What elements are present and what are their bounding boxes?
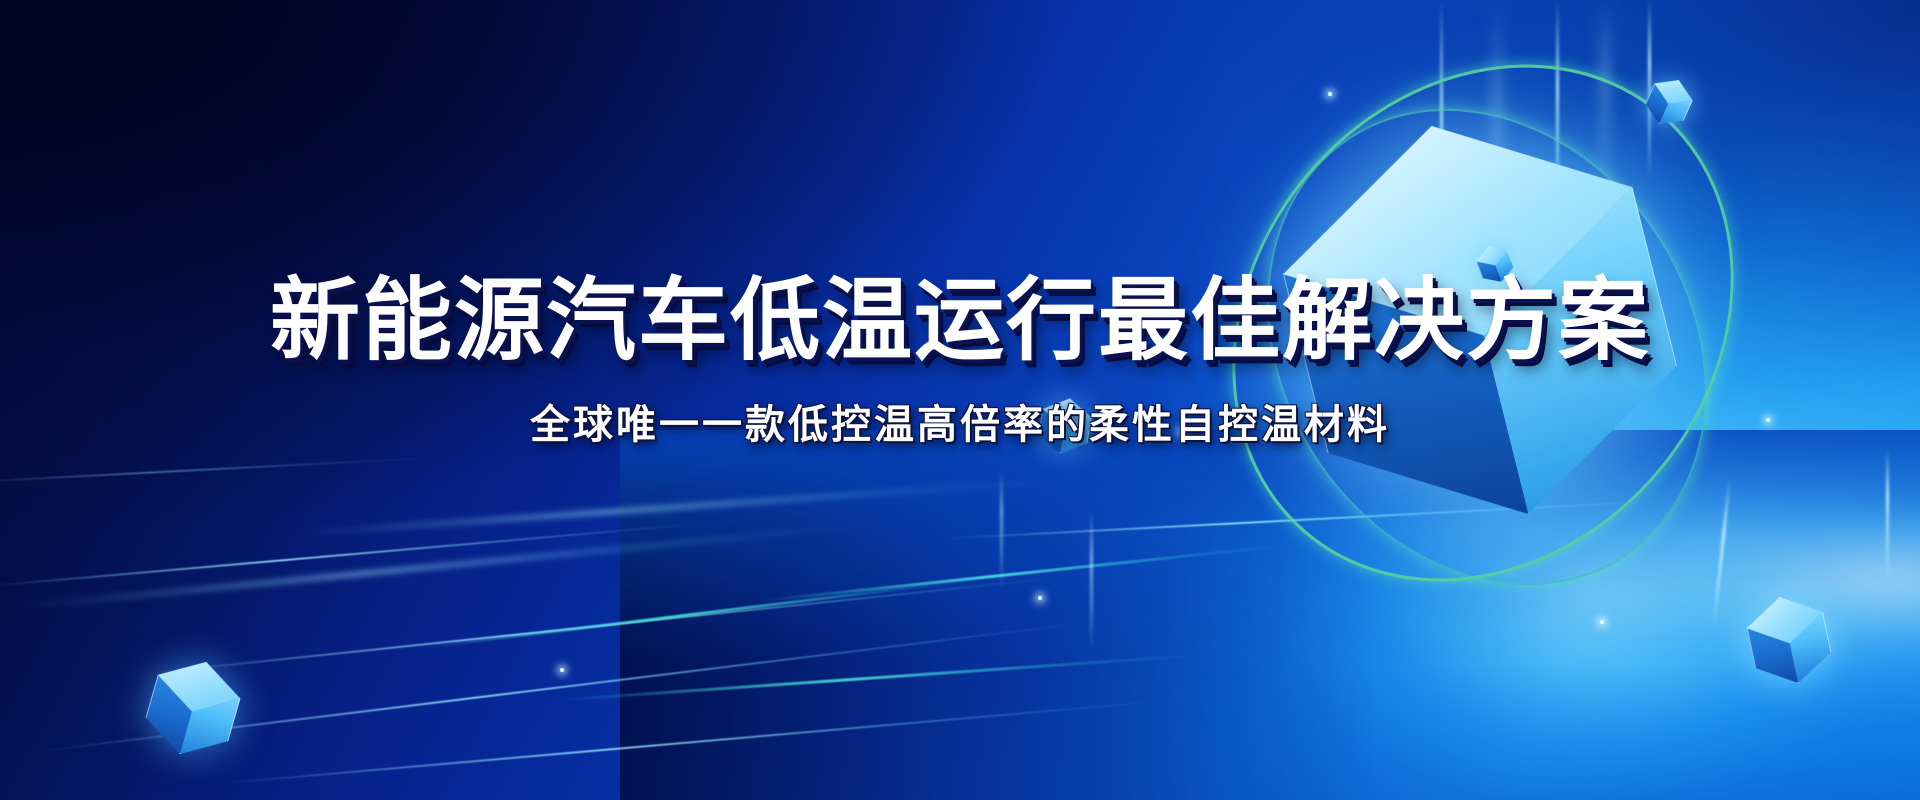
banner-text-block: 新能源汽车低温运行最佳解决方案 全球唯一一款低控温高倍率的柔性自控温材料 bbox=[0, 276, 1920, 450]
sparkle-dot bbox=[1328, 92, 1332, 96]
cube-edges bbox=[138, 650, 247, 766]
floating-cube-lower-left bbox=[138, 650, 247, 766]
banner-subheadline: 全球唯一一款低控温高倍率的柔性自控温材料 bbox=[0, 392, 1920, 450]
banner-headline: 新能源汽车低温运行最佳解决方案 bbox=[0, 276, 1920, 368]
light-streak bbox=[0, 523, 699, 591]
light-streak bbox=[0, 456, 440, 485]
hero-banner: 新能源汽车低温运行最佳解决方案 全球唯一一款低控温高倍率的柔性自控温材料 bbox=[0, 0, 1920, 800]
sparkle-dot bbox=[560, 668, 564, 672]
